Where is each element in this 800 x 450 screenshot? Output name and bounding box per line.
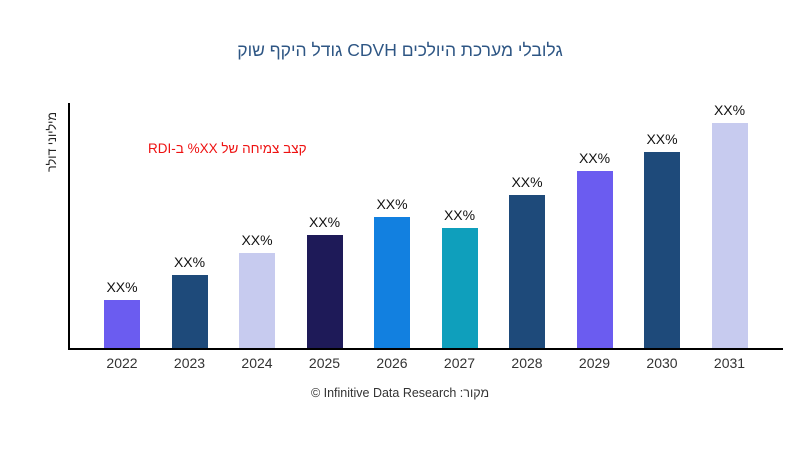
bar-2031[interactable]: XX%: [712, 123, 748, 348]
bar-rect-2024: [239, 253, 275, 348]
bar-2025[interactable]: XX%: [307, 235, 343, 348]
bar-value-label-2029: XX%: [579, 150, 610, 166]
bar-value-label-2027: XX%: [444, 207, 475, 223]
bar-value-label-2031: XX%: [714, 102, 745, 118]
bar-value-label-2028: XX%: [511, 174, 542, 190]
bar-2027[interactable]: XX%: [442, 228, 478, 348]
x-axis-line: [68, 348, 783, 350]
bar-2023[interactable]: XX%: [172, 275, 208, 348]
bar-rect-2028: [509, 195, 545, 348]
x-tick-2031: 2031: [690, 355, 770, 371]
bar-value-label-2026: XX%: [376, 196, 407, 212]
bar-2024[interactable]: XX%: [239, 253, 275, 348]
source-note: מקור: Infinitive Data Research ©: [0, 386, 800, 400]
chart-container: גלובלי מערכת היולכים HVDC גודל היקף שוק …: [0, 0, 800, 450]
bar-rect-2030: [644, 152, 680, 348]
bar-rect-2027: [442, 228, 478, 348]
bar-value-label-2025: XX%: [309, 214, 340, 230]
bar-value-label-2030: XX%: [646, 131, 677, 147]
bar-2028[interactable]: XX%: [509, 195, 545, 348]
bar-rect-2029: [577, 171, 613, 348]
bar-rect-2025: [307, 235, 343, 348]
bar-value-label-2023: XX%: [174, 254, 205, 270]
bar-rect-2023: [172, 275, 208, 348]
bar-rect-2031: [712, 123, 748, 348]
bar-2029[interactable]: XX%: [577, 171, 613, 348]
bar-2022[interactable]: XX%: [104, 300, 140, 348]
bar-value-label-2022: XX%: [106, 279, 137, 295]
bar-2026[interactable]: XX%: [374, 217, 410, 348]
chart-title: גלובלי מערכת היולכים HVDC גודל היקף שוק: [0, 40, 800, 61]
bar-rect-2022: [104, 300, 140, 348]
bar-value-label-2024: XX%: [241, 232, 272, 248]
plot-area: XX%XX%XX%XX%XX%XX%XX%XX%XX%XX%: [68, 103, 788, 350]
y-axis-label: מיליוני דולר: [45, 82, 59, 202]
bar-2030[interactable]: XX%: [644, 152, 680, 348]
bar-rect-2026: [374, 217, 410, 348]
y-axis-line: [68, 103, 70, 350]
